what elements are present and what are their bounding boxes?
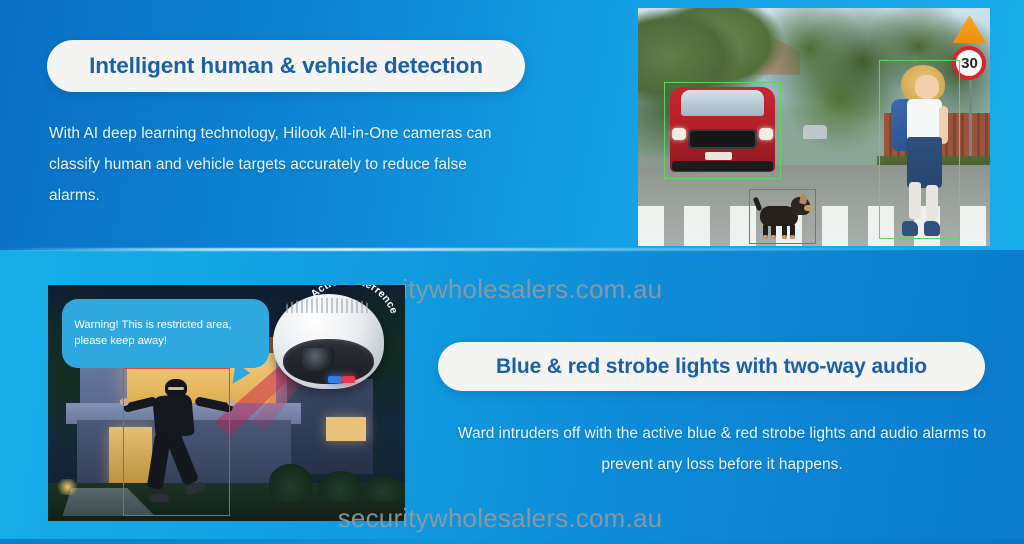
garden-bush [319, 471, 362, 502]
detection-box-human [879, 60, 960, 239]
top-body-text: With AI deep learning technology, Hilook… [49, 118, 519, 211]
watermark-bottom: securitywholesalers.com.au [0, 503, 1012, 534]
detection-box-vehicle [664, 82, 780, 180]
bottom-heading-text: Blue & red strobe lights with two-way au… [496, 355, 927, 379]
camera-lens [302, 348, 335, 371]
top-heading-pill: Intelligent human & vehicle detection [47, 40, 525, 92]
warning-speech-bubble-text: Warning! This is restricted area, please… [74, 317, 257, 349]
bottom-body-text: Ward intruders off with the active blue … [452, 418, 992, 480]
street-detection-photo: 30 [638, 8, 990, 246]
detection-box-intruder [123, 368, 230, 517]
distant-car [803, 125, 827, 139]
garden-bush [269, 464, 312, 502]
bottom-heading-pill: Blue & red strobe lights with two-way au… [438, 342, 985, 391]
blue-strobe-led [328, 376, 341, 384]
dome-camera [273, 294, 384, 388]
garden-lamp-glow [55, 479, 80, 496]
warning-speech-bubble: Warning! This is restricted area, please… [62, 299, 269, 367]
sign-pole [969, 79, 972, 155]
active-deterrence-photo: Active Deterrence Warning! This is restr… [48, 285, 405, 521]
speech-bubble-tail [232, 362, 251, 386]
detection-box-animal [749, 189, 816, 244]
band-divider-highlight [0, 248, 1024, 251]
camera-housing-ridges [286, 298, 370, 313]
top-heading-text: Intelligent human & vehicle detection [89, 53, 483, 79]
infographic-stage: Intelligent human & vehicle detection Wi… [0, 0, 1024, 544]
red-strobe-led [342, 376, 355, 384]
garden-bush [362, 476, 405, 502]
speed-limit-value: 30 [961, 56, 978, 71]
bottom-edge-strip [0, 539, 1024, 544]
house-side-window [326, 417, 365, 441]
